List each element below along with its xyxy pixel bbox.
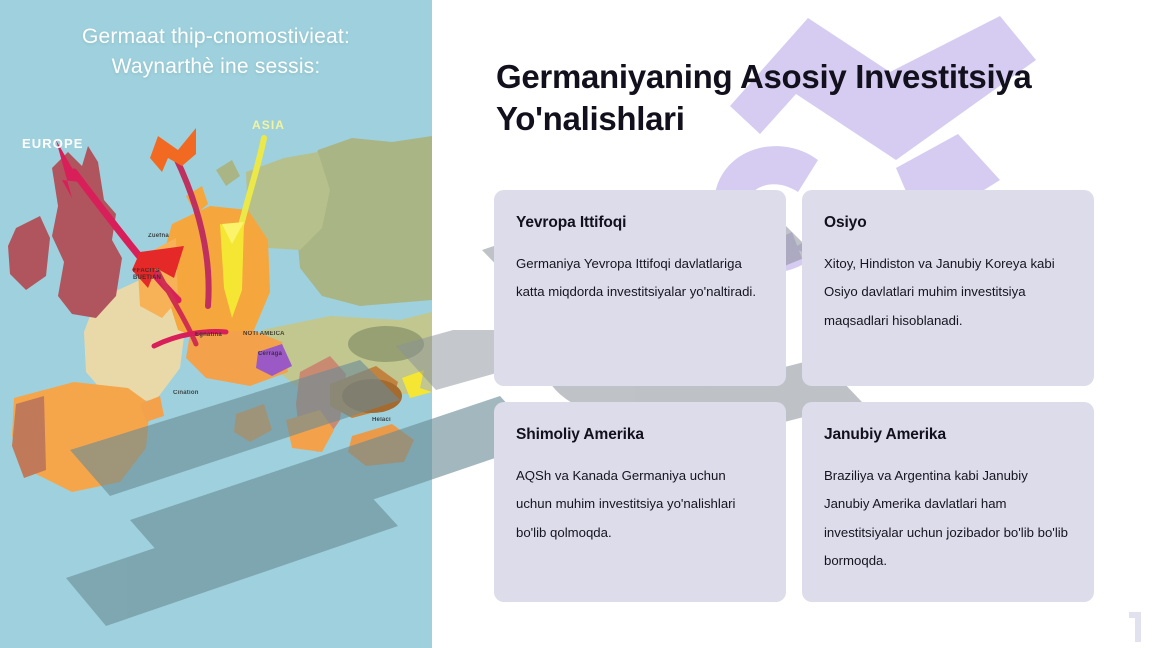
card-yevropa-ittifoqi[interactable]: Yevropa Ittifoqi Germaniya Yevropa Ittif… [494, 190, 786, 386]
map-minilabel: Zuefna [148, 233, 169, 240]
card-body: Braziliya va Argentina kabi Janubiy Janu… [824, 462, 1072, 576]
map-label-europe: EUROPE [22, 136, 84, 151]
map-minilabel: Cerraga [258, 351, 282, 358]
map-minilabel: NOTI AMEICA [243, 331, 285, 338]
landmass-shade-2 [348, 326, 424, 362]
map-panel: Germaat thip-cnomostivieat: Waynarthè in… [0, 0, 432, 648]
landmass-shade-1 [342, 379, 402, 413]
cards-grid: Yevropa Ittifoqi Germaniya Yevropa Ittif… [494, 190, 1094, 602]
card-osiyo[interactable]: Osiyo Xitoy, Hindiston va Janubiy Koreya… [802, 190, 1094, 386]
map-minilabel: Cination [173, 390, 199, 397]
card-body: Xitoy, Hindiston va Janubiy Koreya kabi … [824, 250, 1072, 335]
card-body: AQSh va Kanada Germaniya uchun uchun muh… [516, 462, 764, 547]
content-panel: Germaniyaning Asosiy Investitsiya Yo'nal… [432, 0, 1152, 648]
map-heading-line-1: Germaat thip-cnomostivieat: [82, 25, 350, 48]
page-title: Germaniyaning Asosiy Investitsiya Yo'nal… [496, 56, 1096, 140]
slide-root: Germaat thip-cnomostivieat: Waynarthè in… [0, 0, 1152, 648]
card-title: Yevropa Ittifoqi [516, 214, 764, 232]
card-body: Germaniya Yevropa Ittifoqi davlatlariga … [516, 250, 764, 307]
card-title: Shimoliy Amerika [516, 426, 764, 444]
europe-map-graphic [0, 0, 432, 648]
card-title: Osiyo [824, 214, 1072, 232]
card-janubiy-amerika[interactable]: Janubiy Amerika Braziliya va Argentina k… [802, 402, 1094, 602]
map-minilabel: Egnatina [195, 332, 222, 339]
map-minilabel: FFACITS BUETIAN [133, 268, 161, 282]
card-shimoliy-amerika[interactable]: Shimoliy Amerika AQSh va Kanada Germaniy… [494, 402, 786, 602]
map-heading: Germaat thip-cnomostivieat: Waynarthè in… [0, 22, 432, 83]
map-heading-line-2: Waynarthè ine sessis: [0, 52, 432, 82]
map-label-asia: ASIA [252, 118, 285, 132]
card-title: Janubiy Amerika [824, 426, 1072, 444]
landmass-germany [164, 206, 270, 344]
map-minilabel: Helaci [372, 417, 391, 424]
